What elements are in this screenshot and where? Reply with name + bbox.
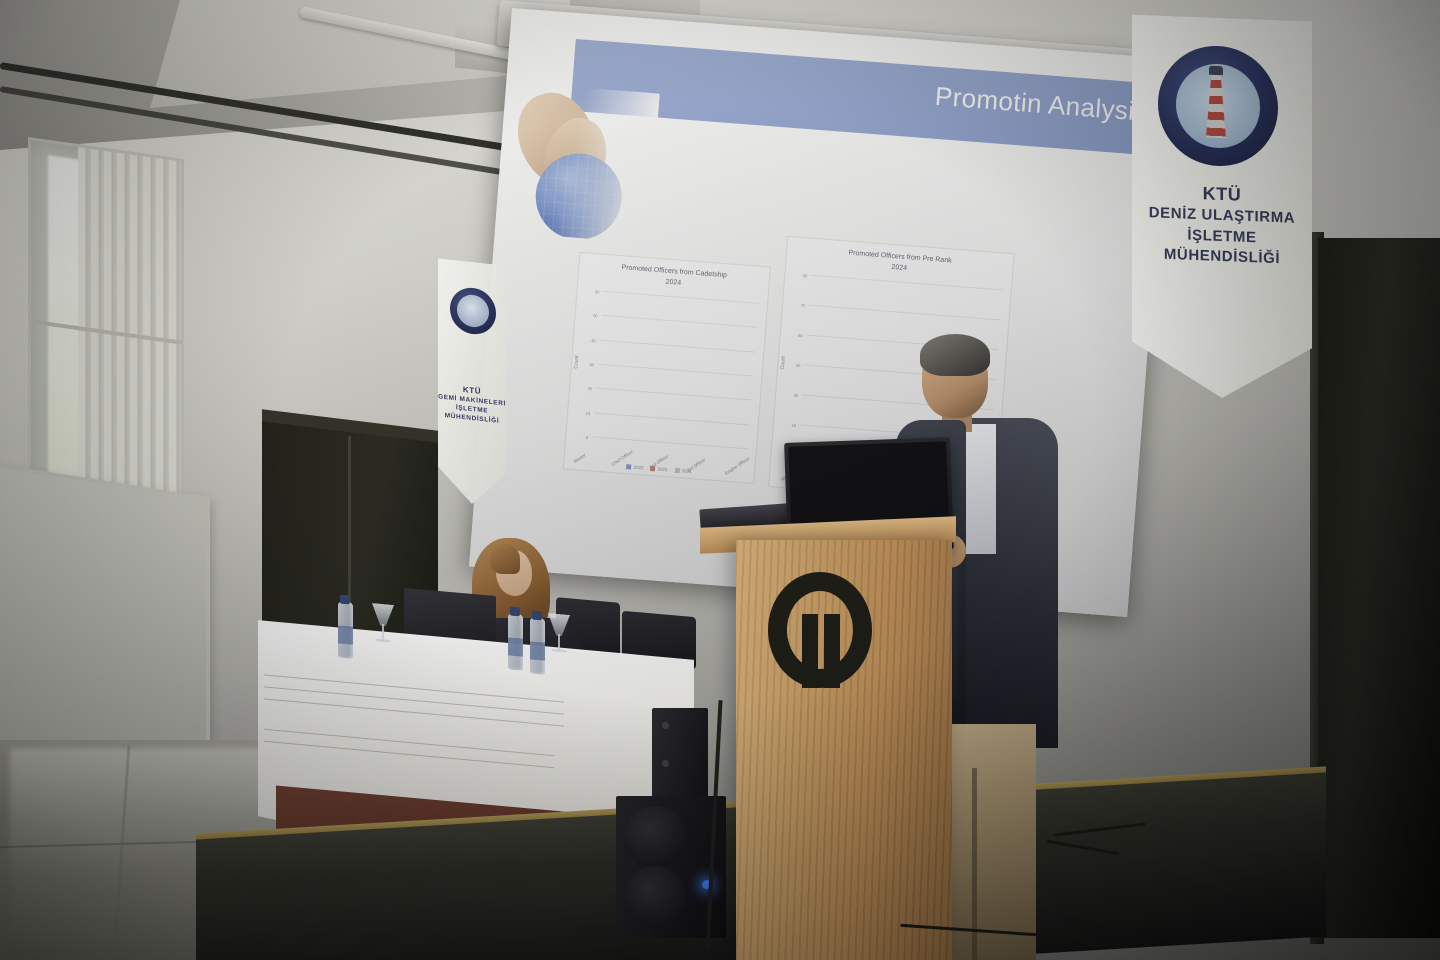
speaker-driver <box>662 722 669 729</box>
drinking-glass[interactable] <box>372 603 394 649</box>
chart-legend-swatch <box>674 468 679 473</box>
bottle-label <box>508 637 523 656</box>
chart-y-tick: 90 <box>803 274 808 278</box>
chart-y-tick: 15 <box>791 424 796 428</box>
bottle-label <box>338 625 353 644</box>
slide-decorative-photo <box>509 83 660 243</box>
chart-y-tick: 60 <box>595 290 600 294</box>
chart-gridline <box>602 315 758 328</box>
banner-right-line2: DENİZ ULAŞTIRMA <box>1149 205 1296 228</box>
bottle-cap <box>532 611 542 621</box>
chart-gridline <box>600 339 756 352</box>
subwoofer-cone-lower <box>624 866 686 928</box>
glass-foot <box>551 648 567 652</box>
banner-left-text: KTÜ GEMİ MAKİNELERİ İŞLETME MÜHENDİSLİĞİ <box>438 382 506 427</box>
chart-promoted-from-cadetship: Promoted Officers from Cadetship 2024 Co… <box>563 252 771 484</box>
banner-right-text: KTÜ DENİZ ULAŞTIRMA İŞLETME MÜHENDİSLİĞİ <box>1138 179 1306 271</box>
podium-ring-emblem-icon <box>768 572 872 688</box>
chart-right-y-label: Count <box>780 356 787 370</box>
exit-door-right[interactable] <box>1318 238 1440 938</box>
chart-y-tick: 0 <box>586 436 589 440</box>
banner-right-line4: MÜHENDİSLİĞİ <box>1164 246 1280 267</box>
chart-left-plot-area <box>592 291 759 449</box>
bottle-cap <box>340 595 350 605</box>
lighthouse-lamp-icon <box>1209 66 1223 76</box>
chart-y-tick: 10 <box>586 412 591 416</box>
chart-y-tick: 45 <box>796 364 801 368</box>
podium-emblem-bar-secondary <box>824 614 840 688</box>
chart-left-y-label: Count <box>573 355 580 369</box>
chart-y-tick: 60 <box>798 334 803 338</box>
bottle-label <box>530 641 545 660</box>
speaker-driver-lower <box>662 760 669 767</box>
chart-y-tick: 30 <box>793 394 798 398</box>
hair-front <box>490 544 520 574</box>
chart-y-tick: 30 <box>589 363 594 367</box>
bottle-cap <box>510 607 520 617</box>
photo-fade-overlay <box>509 83 660 243</box>
podium-emblem-bar <box>802 614 818 688</box>
satellite-speaker <box>652 708 708 804</box>
hair <box>920 334 990 376</box>
chart-legend-item: 2022 <box>626 464 643 470</box>
chart-gridline <box>596 388 752 401</box>
chart-y-tick: 40 <box>591 339 596 343</box>
chart-gridline <box>594 412 750 425</box>
chart-y-tick: 75 <box>800 304 805 308</box>
chart-gridline <box>809 305 1001 321</box>
conference-room-photo: Promotin Analysis Promoted Officers from… <box>0 0 1440 960</box>
chart-y-tick: 50 <box>593 314 598 318</box>
chart-gridline <box>592 436 748 449</box>
subwoofer-cone <box>624 806 686 868</box>
chart-gridline <box>598 364 754 377</box>
chart-y-tick: 20 <box>587 387 592 391</box>
drinking-glass[interactable] <box>548 613 570 659</box>
chart-legend-swatch <box>626 464 631 469</box>
glass-stem <box>558 634 560 650</box>
glass-stem <box>382 624 384 640</box>
banner-right-line3: İŞLETME <box>1187 227 1256 247</box>
glass-foot <box>375 638 391 642</box>
